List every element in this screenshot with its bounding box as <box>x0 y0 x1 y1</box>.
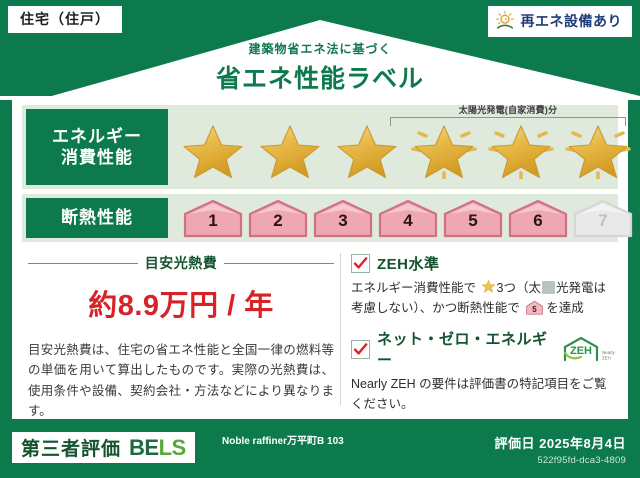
insulation-badge-number: 7 <box>572 211 634 231</box>
zeh-body-mid: 3つ（太 <box>497 281 541 295</box>
evaluation-date: 評価日 2025年8月4日 <box>495 433 627 452</box>
solar-annotation-label: 太陽光発電(自家消費)分 <box>390 103 626 116</box>
housing-type-tag: 住宅（住戸） <box>8 6 122 33</box>
title-main: 省エネ性能ラベル <box>0 59 640 95</box>
redacted-character <box>542 281 555 294</box>
star-6 <box>561 119 635 184</box>
zeh-section: ZEH水準 エネルギー消費性能で 3つ（太光発電は考慮しない）、かつ断熱性能で … <box>351 249 618 409</box>
svg-text:ZEH: ZEH <box>602 356 611 361</box>
property-name: Noble raffiner万平町B 103 <box>222 435 452 449</box>
insulation-badge-number: 2 <box>247 211 309 231</box>
insulation-badge-6: 6 <box>507 198 569 238</box>
bels-logo-part2: LS <box>159 435 186 460</box>
insulation-badge-1: 1 <box>182 198 244 238</box>
net-zero-heading: ネット・ゼロ・エネルギー ZEH Nearly ZEH <box>351 328 618 370</box>
net-zero-body: Nearly ZEH の要件は評価書の特記項目をご覧ください。 <box>351 374 618 414</box>
third-party-eval-label: 第三者評価 <box>21 434 121 461</box>
zeh-standard-checkbox[interactable] <box>351 254 370 273</box>
insulation-badge-4: 4 <box>377 198 439 238</box>
evaluation-id: 522f95fd-dca3-4809 <box>495 455 627 466</box>
insulation-badge-number: 1 <box>182 211 244 231</box>
zeh-logo-subtext: Nearly ZEH <box>602 348 618 362</box>
net-zero-checkbox[interactable] <box>351 340 370 359</box>
star-icon <box>561 119 635 179</box>
cost-rule-right <box>224 263 334 264</box>
title-subtitle: 建築物省エネ法に基づく <box>0 40 640 57</box>
footer-bar: 第三者評価 BELS Noble raffiner万平町B 103 評価日 20… <box>0 423 640 478</box>
energy-label-line2: 消費性能 <box>52 147 142 168</box>
cost-section: 目安光熱費 約8.9万円 / 年 目安光熱費は、住宅の省エネ性能と全国一律の燃料… <box>22 249 340 409</box>
sun-icon <box>494 10 516 32</box>
cost-rule-left <box>28 263 138 264</box>
star-5 <box>484 119 558 184</box>
bels-plate: 第三者評価 BELS <box>12 432 195 463</box>
cost-heading: 目安光熱費 <box>145 253 218 273</box>
evaluation-info: 評価日 2025年8月4日 522f95fd-dca3-4809 <box>495 433 627 466</box>
cost-disclaimer: 目安光熱費は、住宅の省エネ性能と全国一律の燃料等の単価を用いて算出したものです。… <box>22 340 340 421</box>
insulation-badge-number: 3 <box>312 211 374 231</box>
star-icon <box>330 119 404 179</box>
insulation-badge-2: 2 <box>247 198 309 238</box>
zeh-body-pre: エネルギー消費性能で <box>351 281 476 295</box>
star-2 <box>253 119 327 184</box>
insulation-badge-5: 5 <box>442 198 504 238</box>
net-zero-block: ネット・ゼロ・エネルギー ZEH Nearly ZEH <box>351 328 618 414</box>
energy-label-line1: エネルギー <box>52 126 142 147</box>
star-4 <box>407 119 481 184</box>
bels-logo-part1: BE <box>129 435 159 460</box>
label-title-group: 建築物省エネ法に基づく 省エネ性能ラベル <box>0 40 640 95</box>
zeh-house-icon: ZEH <box>561 336 601 362</box>
star-icon <box>407 119 481 179</box>
zeh-logo: ZEH Nearly ZEH <box>561 336 618 362</box>
zeh-body-end: を達成 <box>546 301 584 315</box>
energy-performance-row: エネルギー 消費性能 太陽光発電(自家消費)分 <box>22 105 618 189</box>
insulation-performance-label: 断熱性能 <box>26 198 168 238</box>
check-icon <box>352 255 369 272</box>
star-1 <box>176 119 250 184</box>
zeh-standard-block: ZEH水準 エネルギー消費性能で 3つ（太光発電は考慮しない）、かつ断熱性能で … <box>351 253 618 318</box>
net-zero-title: ネット・ゼロ・エネルギー <box>377 328 549 370</box>
energy-label-root: 住宅（住戸） 再エネ設備あり 建築物省エネ法に基づく 省エネ性能ラベル <box>0 0 640 478</box>
insulation-badge-3: 3 <box>312 198 374 238</box>
renewable-equipment-badge: 再エネ設備あり <box>488 6 633 37</box>
check-icon <box>352 341 369 358</box>
insulation-performance-row: 断熱性能 1234567 <box>22 194 618 242</box>
zeh-standard-body: エネルギー消費性能で 3つ（太光発電は考慮しない）、かつ断熱性能で 5 を達成 <box>351 278 618 318</box>
cost-heading-row: 目安光熱費 <box>22 253 340 273</box>
insulation-badge-number: 6 <box>507 211 569 231</box>
star-icon <box>484 119 558 179</box>
svg-text:ZEH: ZEH <box>570 345 592 357</box>
cost-value: 約8.9万円 / 年 <box>22 282 340 324</box>
lower-content: 目安光熱費 約8.9万円 / 年 目安光熱費は、住宅の省エネ性能と全国一律の燃料… <box>22 249 618 409</box>
renewable-equipment-label: 再エネ設備あり <box>521 14 623 28</box>
star-icon <box>176 119 250 179</box>
label-body-card: エネルギー 消費性能 太陽光発電(自家消費)分 断熱性能 1234567 目安光… <box>12 97 628 419</box>
insulation-badge-number: 4 <box>377 211 439 231</box>
zeh-standard-title: ZEH水準 <box>377 253 440 274</box>
energy-performance-label: エネルギー 消費性能 <box>26 109 168 185</box>
zeh-standard-heading: ZEH水準 <box>351 253 618 274</box>
svg-text:5: 5 <box>533 305 538 314</box>
insulation-badge-7: 7 <box>572 198 634 238</box>
star-rating <box>176 119 635 184</box>
energy-stars-area: 太陽光発電(自家消費)分 <box>168 105 618 189</box>
svg-text:Nearly: Nearly <box>602 350 615 355</box>
inline-level-badge-icon: 5 <box>525 300 544 315</box>
inline-star-icon <box>481 279 496 294</box>
star-3 <box>330 119 404 184</box>
column-divider <box>340 253 341 405</box>
bels-logo: BELS <box>129 435 186 461</box>
star-icon <box>253 119 327 179</box>
insulation-badge-number: 5 <box>442 211 504 231</box>
insulation-level-badges: 1234567 <box>182 198 634 238</box>
